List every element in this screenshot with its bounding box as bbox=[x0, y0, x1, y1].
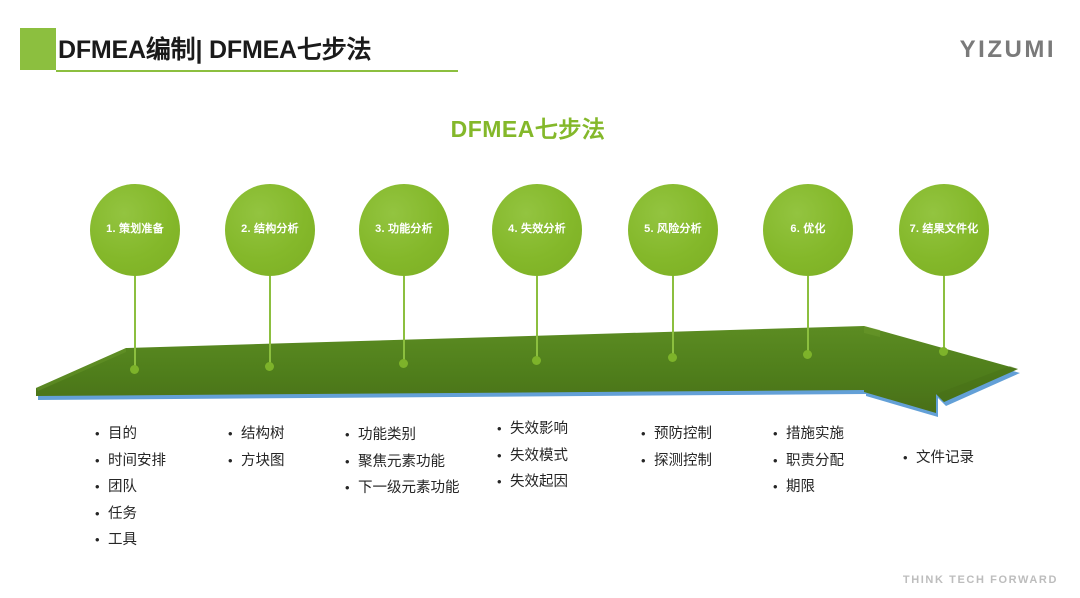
list-item: •期限 bbox=[773, 480, 844, 495]
bullet-icon: • bbox=[497, 475, 510, 489]
bullet-column-1: •目的 •时间安排 •团队 •任务 •工具 bbox=[95, 427, 166, 560]
list-item: •职责分配 bbox=[773, 454, 844, 469]
list-item-label: 期限 bbox=[786, 480, 815, 495]
bullet-icon: • bbox=[903, 451, 916, 465]
list-item: •目的 bbox=[95, 427, 166, 442]
list-item-label: 方块图 bbox=[241, 454, 285, 469]
list-item: •功能类别 bbox=[345, 428, 460, 443]
list-item-label: 职责分配 bbox=[786, 454, 844, 469]
list-item-label: 失效模式 bbox=[510, 449, 568, 464]
list-item-label: 失效影响 bbox=[510, 422, 568, 437]
list-item-label: 时间安排 bbox=[108, 454, 166, 469]
list-item: •任务 bbox=[95, 507, 166, 522]
list-item-label: 预防控制 bbox=[654, 427, 712, 442]
bullet-icon: • bbox=[95, 507, 108, 521]
list-item: •失效影响 bbox=[497, 422, 568, 437]
bullet-column-5: •预防控制 •探测控制 bbox=[641, 427, 712, 480]
list-item-label: 团队 bbox=[108, 480, 137, 495]
bullet-column-6: •措施实施 •职责分配 •期限 bbox=[773, 427, 844, 507]
list-item: •下一级元素功能 bbox=[345, 481, 460, 496]
list-item-label: 探测控制 bbox=[654, 454, 712, 469]
list-item: •失效模式 bbox=[497, 449, 568, 464]
list-item-label: 任务 bbox=[108, 507, 137, 522]
bullet-column-3: •功能类别 •聚焦元素功能 •下一级元素功能 bbox=[345, 428, 460, 508]
bullet-icon: • bbox=[228, 454, 241, 468]
bullet-icon: • bbox=[641, 454, 654, 468]
list-item: •方块图 bbox=[228, 454, 285, 469]
bullet-icon: • bbox=[345, 481, 358, 495]
bullet-icon: • bbox=[773, 454, 786, 468]
bullet-icon: • bbox=[497, 422, 510, 436]
bullet-icon: • bbox=[641, 427, 654, 441]
list-item: •失效起因 bbox=[497, 475, 568, 490]
list-item: •预防控制 bbox=[641, 427, 712, 442]
bullet-icon: • bbox=[773, 480, 786, 494]
list-item-label: 失效起因 bbox=[510, 475, 568, 490]
list-item-label: 措施实施 bbox=[786, 427, 844, 442]
list-item: •工具 bbox=[95, 533, 166, 548]
slide-root: DFMEA编制| DFMEA七步法 YIZUMI DFMEA七步法 bbox=[0, 0, 1080, 598]
bullet-icon: • bbox=[228, 427, 241, 441]
bullet-icon: • bbox=[95, 533, 108, 547]
list-item: •文件记录 bbox=[903, 451, 974, 466]
bullet-column-2: •结构树 •方块图 bbox=[228, 427, 285, 480]
list-item-label: 工具 bbox=[108, 533, 137, 548]
list-item: •措施实施 bbox=[773, 427, 844, 442]
bullet-icon: • bbox=[95, 480, 108, 494]
footer-tagline: THINK TECH FORWARD bbox=[903, 574, 1058, 586]
list-item: •探测控制 bbox=[641, 454, 712, 469]
bullet-icon: • bbox=[773, 427, 786, 441]
list-item-label: 功能类别 bbox=[358, 428, 416, 443]
list-item-label: 结构树 bbox=[241, 427, 285, 442]
list-item-label: 下一级元素功能 bbox=[358, 481, 460, 496]
bullet-icon: • bbox=[345, 428, 358, 442]
list-item: •结构树 bbox=[228, 427, 285, 442]
list-item-label: 目的 bbox=[108, 427, 137, 442]
bullet-icon: • bbox=[345, 455, 358, 469]
bullet-icon: • bbox=[95, 454, 108, 468]
list-item: •聚焦元素功能 bbox=[345, 455, 460, 470]
list-item: •时间安排 bbox=[95, 454, 166, 469]
list-item: •团队 bbox=[95, 480, 166, 495]
bullet-icon: • bbox=[497, 449, 510, 463]
bullet-icon: • bbox=[95, 427, 108, 441]
step-detail-lists: •目的 •时间安排 •团队 •任务 •工具 •结构树 •方块图 •功能类别 •聚… bbox=[0, 0, 1080, 598]
list-item-label: 文件记录 bbox=[916, 451, 974, 466]
bullet-column-4: •失效影响 •失效模式 •失效起因 bbox=[497, 422, 568, 502]
list-item-label: 聚焦元素功能 bbox=[358, 455, 445, 470]
bullet-column-7: •文件记录 bbox=[903, 451, 974, 478]
